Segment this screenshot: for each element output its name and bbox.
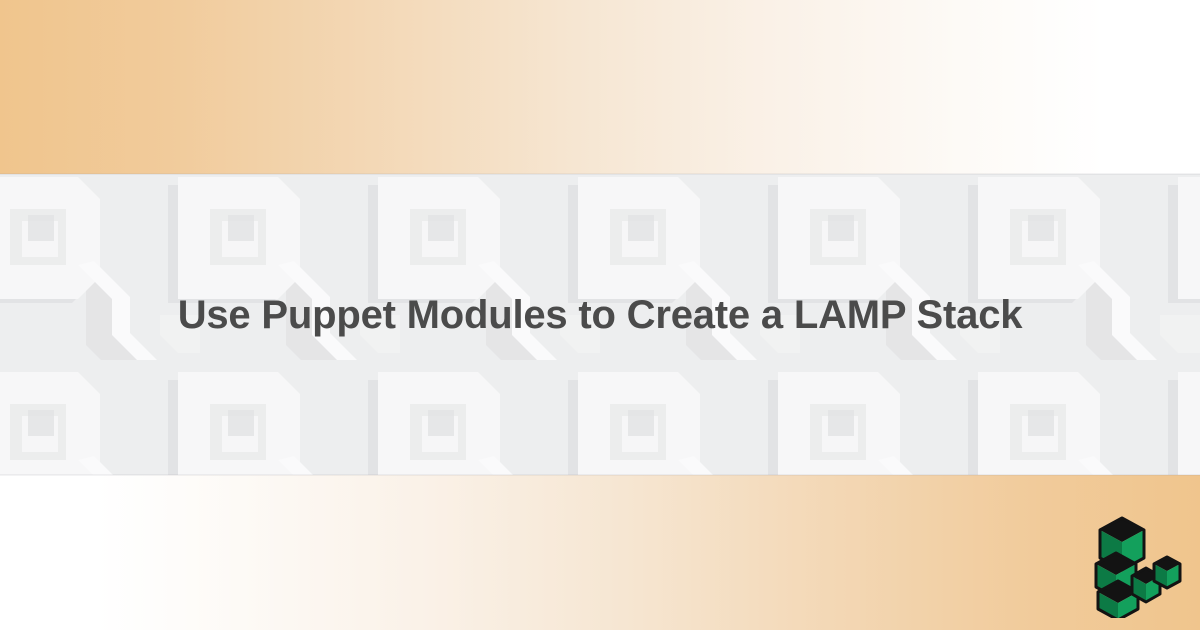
puppet-cubes-logo [1082, 508, 1192, 618]
background-pattern [0, 0, 1200, 630]
cube-small-right [1154, 557, 1180, 588]
social-share-card: Use Puppet Modules to Create a LAMP Stac… [0, 0, 1200, 630]
